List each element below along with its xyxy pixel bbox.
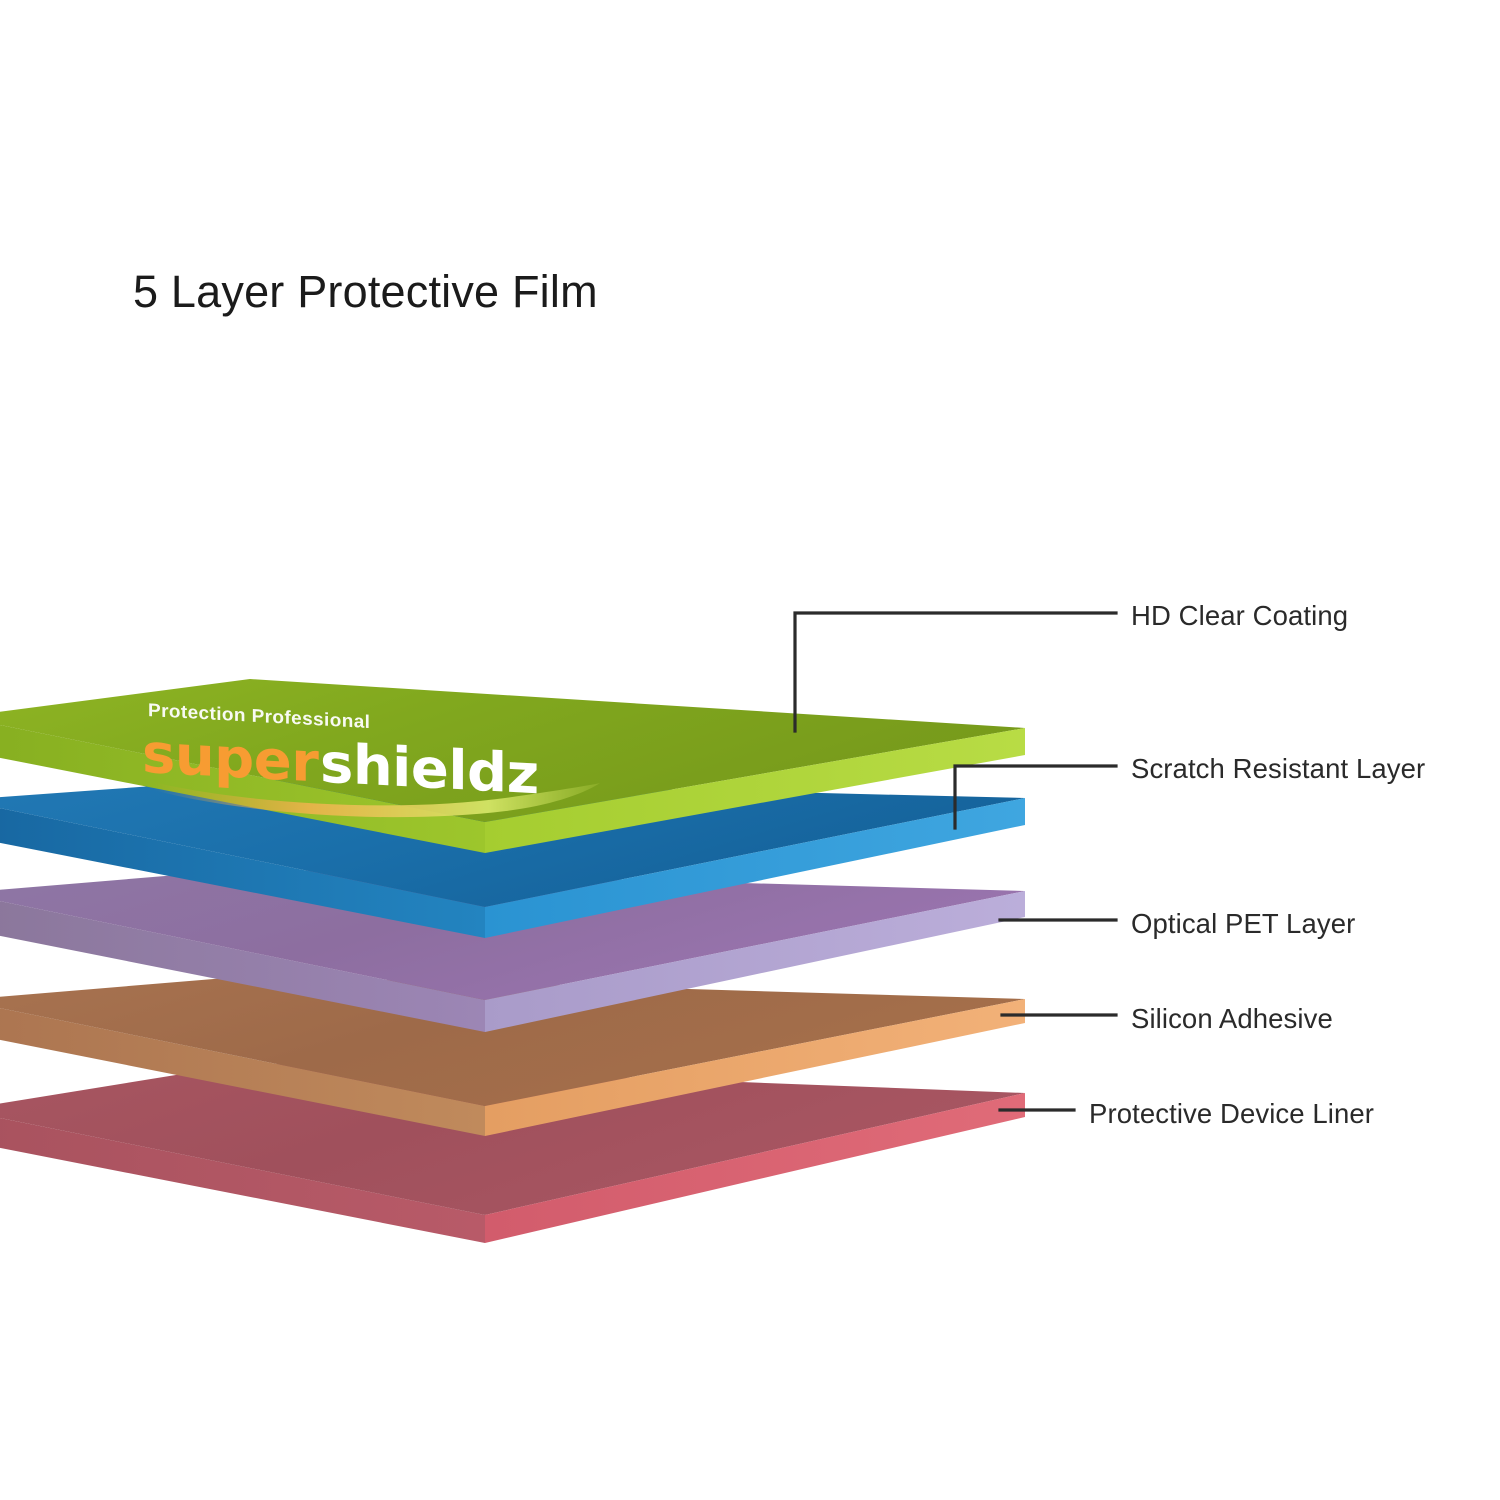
- layer-stack-illustration: Protection Professional super shieldz: [0, 0, 1500, 1500]
- diagram-canvas: 5 Layer Protective Film: [0, 0, 1500, 1500]
- label-scratch-resistant-layer: Scratch Resistant Layer: [1131, 753, 1425, 785]
- label-hd-clear-coating: HD Clear Coating: [1131, 600, 1348, 632]
- label-optical-pet-layer: Optical PET Layer: [1131, 908, 1355, 940]
- label-silicon-adhesive: Silicon Adhesive: [1131, 1003, 1333, 1035]
- logo-name-shieldz: shieldz: [320, 732, 539, 807]
- leader-line-hd-clear-coating: [795, 613, 1116, 731]
- logo-name-super: super: [142, 723, 320, 796]
- label-protective-device-liner: Protective Device Liner: [1089, 1098, 1374, 1130]
